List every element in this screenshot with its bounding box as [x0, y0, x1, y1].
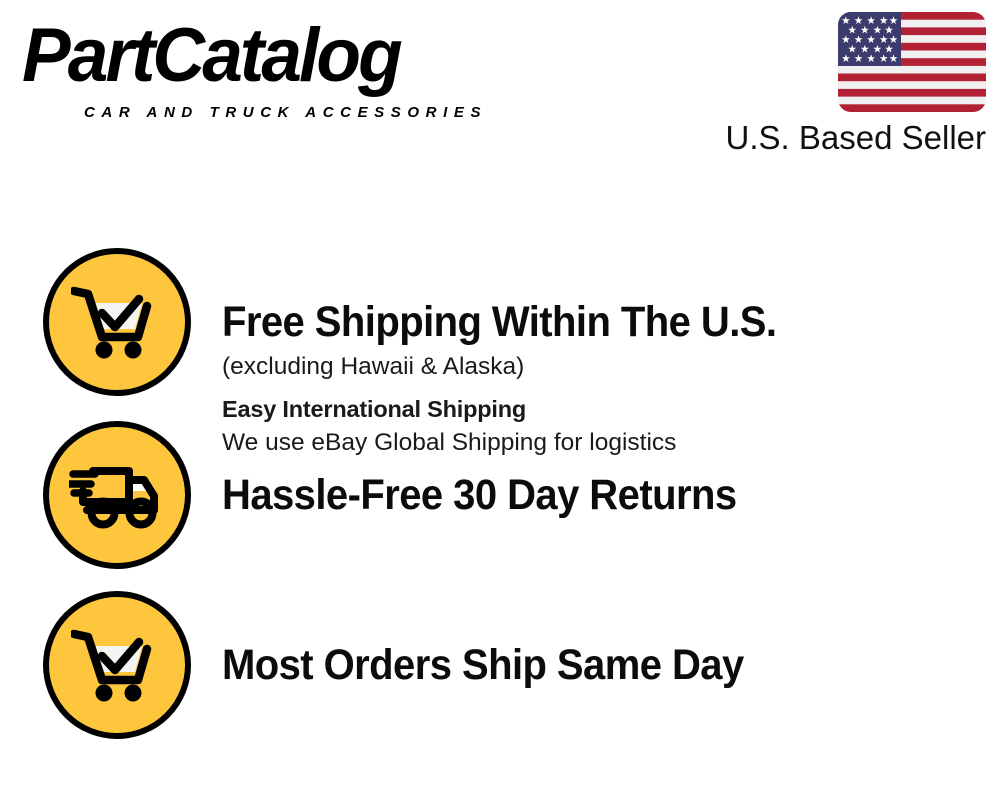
benefit-heading: Free Shipping Within The U.S. [222, 298, 927, 346]
brand-logo[interactable]: PartCatalog CAR AND TRUCK ACCESSORIES [22, 18, 492, 118]
header: PartCatalog CAR AND TRUCK ACCESSORIES [0, 0, 1000, 175]
benefit-text-returns: Hassle-Free 30 Day Returns [222, 471, 980, 519]
benefit-text-same-day: Most Orders Ship Same Day [222, 641, 980, 689]
shopping-cart-check-icon [43, 248, 191, 396]
benefit-subtext-international: Easy International Shipping [222, 393, 980, 426]
shopping-cart-check-icon [43, 591, 191, 739]
delivery-truck-icon [43, 421, 191, 569]
us-flag-icon [838, 12, 986, 112]
benefit-subtext-logistics: We use eBay Global Shipping for logistic… [222, 426, 980, 459]
benefit-heading: Most Orders Ship Same Day [222, 641, 927, 689]
us-based-seller-label: U.S. Based Seller [726, 118, 986, 158]
benefit-subtext-exclusions: (excluding Hawaii & Alaska) [222, 350, 980, 383]
brand-tagline: CAR AND TRUCK ACCESSORIES [84, 105, 487, 120]
benefit-text-free-shipping: Free Shipping Within The U.S. (excluding… [222, 298, 980, 459]
brand-wordmark: PartCatalog [22, 18, 400, 94]
benefit-heading: Hassle-Free 30 Day Returns [222, 471, 927, 519]
